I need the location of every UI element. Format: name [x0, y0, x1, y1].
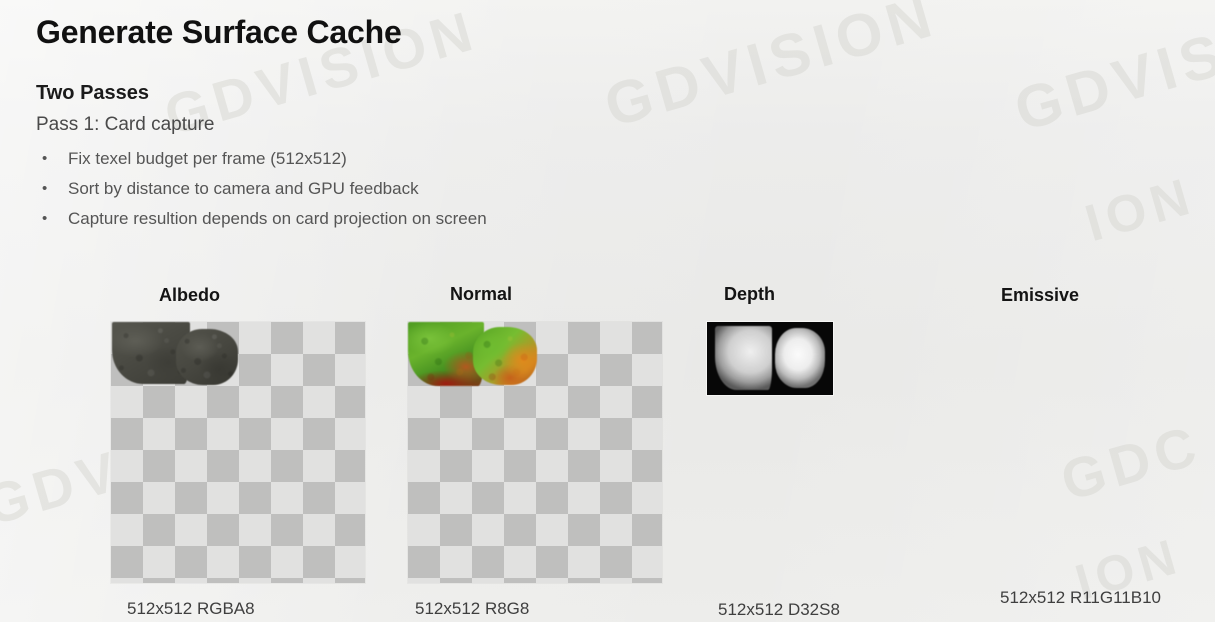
watermark-text: GDVISION: [597, 0, 944, 141]
column-heading-emissive: Emissive: [1001, 285, 1079, 306]
column-heading-depth: Depth: [724, 284, 775, 305]
list-item-label: Capture resultion depends on card projec…: [68, 204, 487, 234]
watermark-text: ION: [1079, 166, 1202, 254]
rock-grain-texture: [176, 329, 238, 385]
slide-title: Generate Surface Cache: [36, 14, 402, 51]
watermark-text: GDC: [1054, 412, 1209, 514]
normal-capture-tile-b: [473, 327, 537, 385]
bullet-marker-icon: •: [36, 204, 68, 234]
normal-format-caption: 512x512 R8G8: [415, 599, 529, 619]
slide-canvas: GDVISION GDVISION GDVISION GDVISION GDC …: [0, 0, 1215, 622]
list-item-label: Sort by distance to camera and GPU feedb…: [68, 174, 419, 204]
depth-capture-tile-b: [775, 328, 825, 388]
column-heading-albedo: Albedo: [159, 285, 220, 306]
depth-capture-tile-a: [715, 326, 772, 390]
albedo-format-caption: 512x512 RGBA8: [127, 599, 255, 619]
watermark-text: GDVISION: [1007, 0, 1215, 145]
depth-format-caption: 512x512 D32S8: [718, 600, 840, 620]
emissive-format-caption: 512x512 R11G11B10: [1000, 588, 1161, 608]
bullet-marker-icon: •: [36, 144, 68, 174]
column-heading-normal: Normal: [450, 284, 512, 305]
list-item: • Capture resultion depends on card proj…: [36, 204, 796, 234]
list-item: • Fix texel budget per frame (512x512): [36, 144, 796, 174]
list-item-label: Fix texel budget per frame (512x512): [68, 144, 347, 174]
list-item: • Sort by distance to camera and GPU fee…: [36, 174, 796, 204]
bullet-marker-icon: •: [36, 174, 68, 204]
albedo-capture-tile-b: [176, 329, 238, 385]
slide-subtitle: Two Passes: [36, 82, 149, 105]
pass-label: Pass 1: Card capture: [36, 114, 214, 136]
normal-grain-texture: [473, 327, 537, 385]
bullet-list: • Fix texel budget per frame (512x512) •…: [36, 144, 796, 234]
